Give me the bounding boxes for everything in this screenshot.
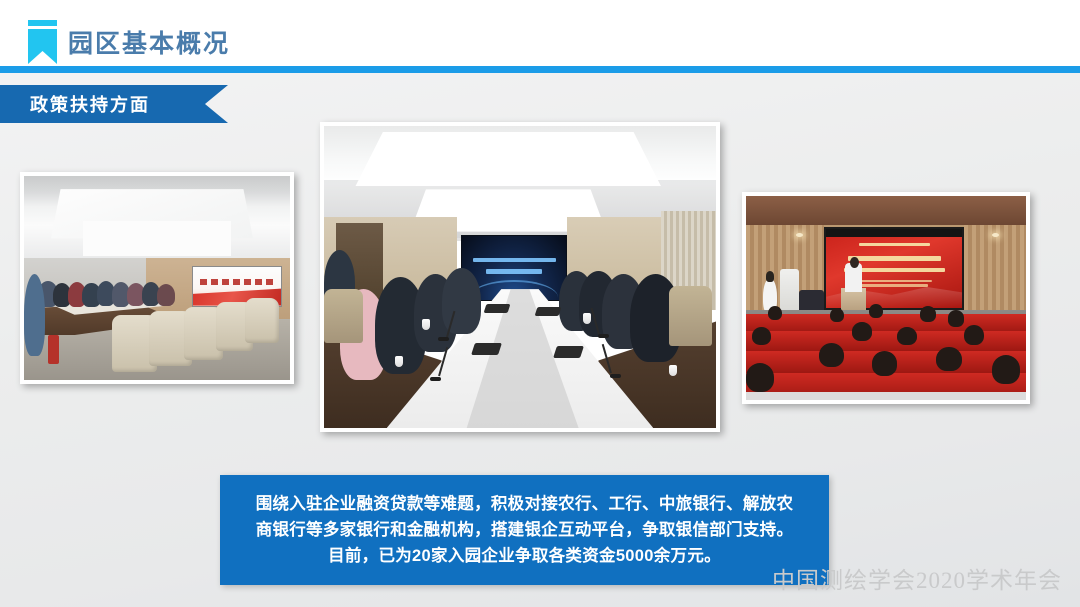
microphone-base <box>430 377 441 381</box>
seat-row <box>746 314 1026 332</box>
audience-head <box>869 304 883 318</box>
photo-right <box>742 192 1030 404</box>
slide: 园区基本概况 政策扶持方面 <box>0 0 1080 607</box>
fire-extinguisher <box>48 335 59 364</box>
chair <box>324 289 363 343</box>
page-title: 园区基本概况 <box>68 20 230 64</box>
audience-head <box>819 343 844 367</box>
photo-center <box>320 122 720 432</box>
audience-head <box>964 325 984 345</box>
screen-title-line-1 <box>473 258 556 263</box>
standing-attendee-head <box>766 271 774 281</box>
chair <box>245 298 280 343</box>
person-standing <box>24 274 45 356</box>
audience-head <box>852 322 872 340</box>
screen-footer-text <box>856 280 932 282</box>
photo-center-frame <box>324 126 716 428</box>
ceiling-downlight <box>796 233 803 237</box>
table-pad <box>483 304 509 313</box>
audience-head <box>992 355 1020 384</box>
ceiling-downlight <box>992 233 999 237</box>
audience-head <box>872 351 897 375</box>
photo-left-frame <box>24 176 290 380</box>
microphone-base <box>598 334 609 338</box>
ceiling <box>746 196 1026 225</box>
audience-head <box>920 306 937 322</box>
audience-head <box>746 363 774 392</box>
chair <box>669 286 712 346</box>
ceiling-light-panel-2 <box>83 221 232 256</box>
caption-box: 围绕入驻企业融资贷款等难题，积极对接农行、工行、中旅银行、解放农 商银行等多家银… <box>220 475 829 585</box>
audience-head <box>752 327 772 345</box>
caption-line-2: 商银行等多家银行和金融机构，搭建银企互动平台，争取银信部门支持。 <box>256 517 794 543</box>
table-pad <box>553 346 584 358</box>
attendee <box>442 268 481 334</box>
screen-header-text <box>859 243 930 246</box>
screen-bezel <box>826 229 962 237</box>
caption-line-1: 围绕入驻企业融资贷款等难题，积极对接农行、工行、中旅银行、解放农 <box>256 491 794 517</box>
microphone-base <box>438 337 449 341</box>
paper-cup <box>583 313 591 324</box>
header-divider <box>0 66 1080 73</box>
photo-right-frame <box>746 196 1026 400</box>
speaker-head <box>850 257 859 268</box>
paper-cup <box>669 365 677 376</box>
ceiling-light-panel <box>355 132 661 186</box>
photo-left <box>20 172 294 384</box>
screen-title-text <box>200 279 274 284</box>
attendee <box>157 284 175 306</box>
audience-head <box>948 310 965 326</box>
screen-title-line-2 <box>486 269 542 274</box>
section-ribbon-label: 政策扶持方面 <box>30 91 150 117</box>
section-ribbon: 政策扶持方面 <box>0 85 228 123</box>
attendees-group <box>35 278 200 315</box>
table-pad <box>471 343 502 355</box>
microphone-base <box>610 374 621 378</box>
seat-row <box>746 331 1026 351</box>
wall-panel-right <box>964 225 1026 317</box>
audience-head <box>897 327 917 345</box>
table-pad <box>534 307 560 316</box>
paper-cup <box>395 356 403 367</box>
paper-cup <box>422 319 430 330</box>
screen-footer-text <box>860 284 928 286</box>
audience-head <box>830 308 844 322</box>
slide-header: 园区基本概况 <box>0 0 1080 66</box>
photo-bottom-strip <box>746 392 1026 400</box>
bookmark-icon <box>28 20 57 64</box>
audience-head <box>936 347 961 371</box>
caption-line-3: 目前，已为20家入园企业争取各类资金5000余万元。 <box>328 543 721 569</box>
screen-title-text <box>848 256 940 262</box>
